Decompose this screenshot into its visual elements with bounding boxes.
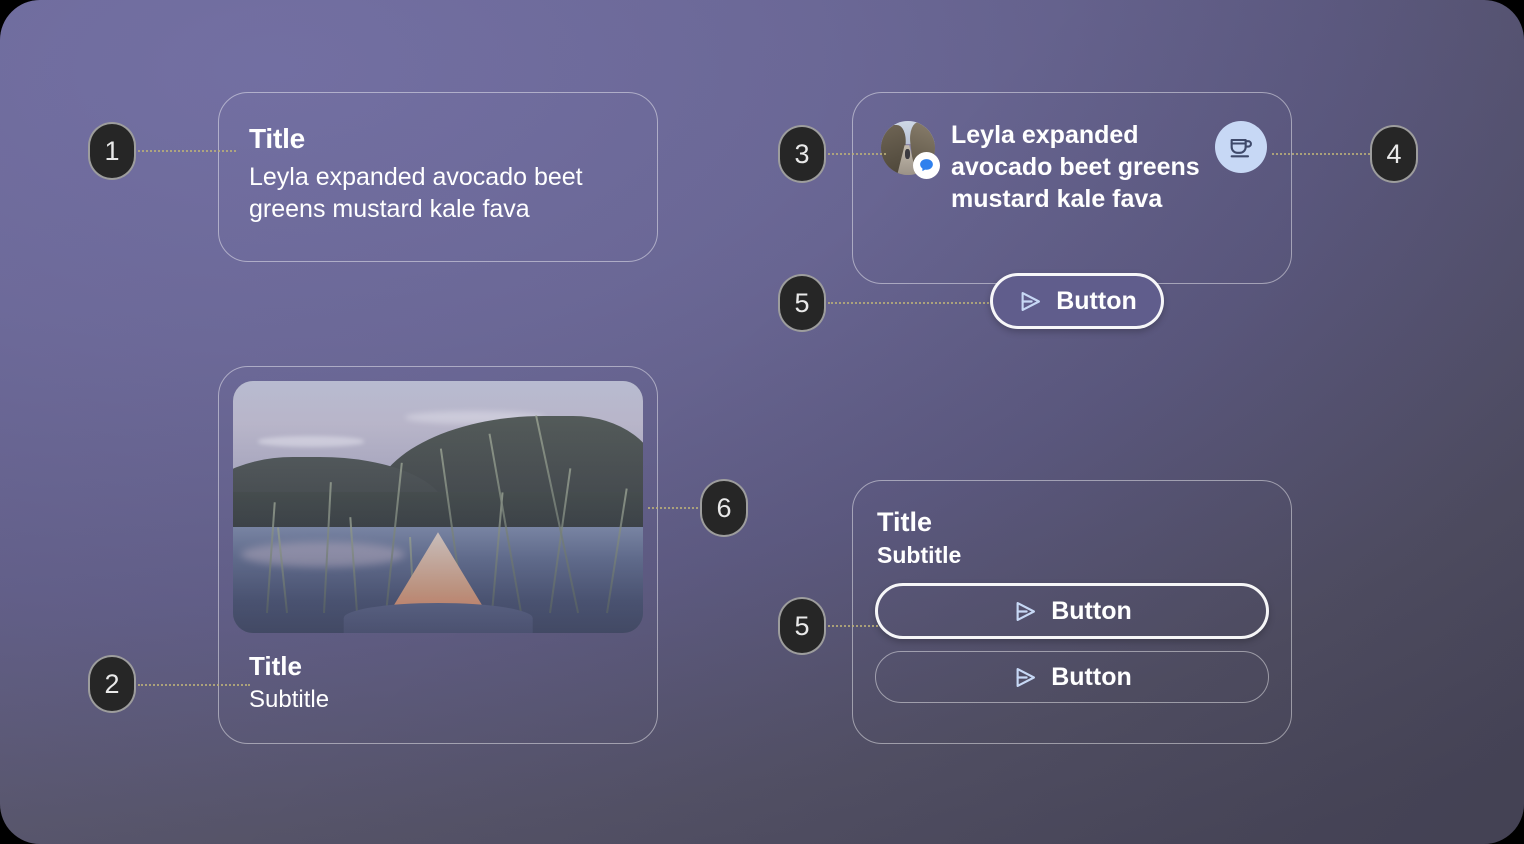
marker-6[interactable]: 6 <box>700 479 748 537</box>
avatar-card-button-label: Button <box>1056 287 1137 316</box>
media-card-subtitle: Subtitle <box>249 686 627 714</box>
text-card-body: Leyla expanded avocado beet greens musta… <box>249 161 627 225</box>
connector-line-1 <box>138 150 236 152</box>
text-card-title: Title <box>249 123 627 155</box>
chat-bubble-icon <box>913 152 940 179</box>
actions-card[interactable]: Title Subtitle Button Button <box>852 480 1292 744</box>
send-icon <box>1012 664 1039 691</box>
marker-5-action-button[interactable]: 5 <box>778 597 826 655</box>
connector-line-4 <box>1272 153 1370 155</box>
marker-2[interactable]: 2 <box>88 655 136 713</box>
text-card[interactable]: Title Leyla expanded avocado beet greens… <box>218 92 658 262</box>
avatar[interactable] <box>881 121 935 175</box>
actions-card-button-secondary[interactable]: Button <box>875 651 1269 703</box>
marker-5-avatar-button[interactable]: 5 <box>778 274 826 332</box>
coffee-cup-icon[interactable] <box>1215 121 1267 173</box>
actions-card-subtitle: Subtitle <box>877 542 1269 569</box>
design-annotation-canvas: 1 2 3 4 5 5 6 Title Leyla expanded avoca… <box>0 0 1524 844</box>
actions-card-button-secondary-label: Button <box>1051 663 1132 692</box>
media-card[interactable]: Title Subtitle <box>218 366 658 744</box>
kayak-lake-photo <box>233 381 643 633</box>
actions-card-button-primary-label: Button <box>1051 597 1132 626</box>
avatar-card-headline: Leyla expanded avocado beet greens musta… <box>951 119 1206 215</box>
connector-line-5b <box>828 625 878 627</box>
send-icon <box>1012 598 1039 625</box>
avatar-card-button[interactable]: Button <box>990 273 1164 329</box>
avatar-card[interactable]: Leyla expanded avocado beet greens musta… <box>852 92 1292 284</box>
marker-1[interactable]: 1 <box>88 122 136 180</box>
actions-card-title: Title <box>877 507 1269 538</box>
marker-3[interactable]: 3 <box>778 125 826 183</box>
send-icon <box>1017 288 1044 315</box>
actions-card-button-primary[interactable]: Button <box>875 583 1269 639</box>
connector-line-2 <box>138 684 250 686</box>
media-card-title: Title <box>249 651 627 682</box>
connector-line-5a <box>828 302 996 304</box>
marker-4[interactable]: 4 <box>1370 125 1418 183</box>
connector-line-3 <box>828 153 886 155</box>
